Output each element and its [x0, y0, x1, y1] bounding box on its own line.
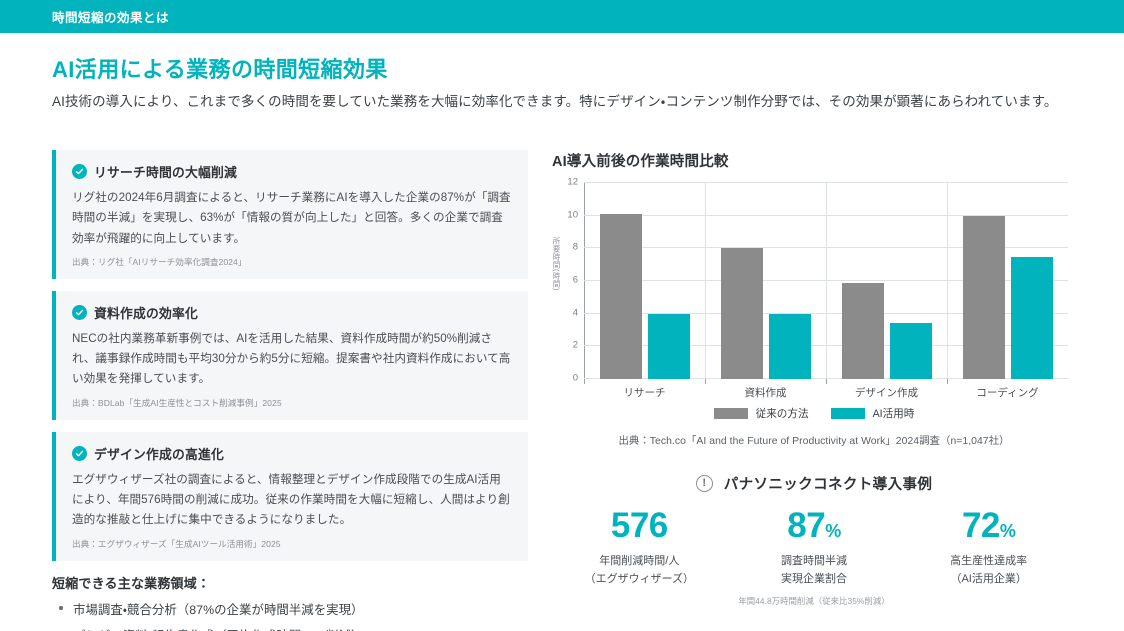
stat-caption: 年間削減時間/人 （エグザウィザーズ） [552, 552, 727, 588]
case-study-header: ! パナソニックコネクト導入事例 [552, 473, 1076, 494]
exclamation-circle-icon: ! [696, 475, 713, 492]
chart-x-tick-label: コーディング [947, 385, 1068, 400]
chart-bar [648, 314, 690, 379]
insight-card-title: デザイン作成の高進化 [94, 444, 224, 463]
case-study-title: パナソニックコネクト導入事例 [724, 473, 933, 494]
stat-value: 87% [727, 508, 902, 545]
chart-title: AI導入前後の作業時間比較 [552, 150, 1076, 171]
stats-row: 576 年間削減時間/人 （エグザウィザーズ） 87% 調査時間半減 実現企業割… [552, 508, 1076, 588]
legend-label: AI活用時 [873, 406, 915, 421]
chart-bar-group: リサーチ [584, 183, 705, 379]
insight-card-source: 出典：エグザウィザーズ「生成AIツール活用術」2025 [72, 538, 512, 550]
chart-source: 出典：Tech.co「AI and the Future of Producti… [552, 432, 1076, 447]
slide-header-bar: 時間短縮の効果とは [0, 0, 1124, 33]
list-item: 市場調査・競合分析（87%の企業が時間半減を実現） [52, 600, 528, 618]
stat-item: 576 年間削減時間/人 （エグザウィザーズ） [552, 508, 727, 588]
chart-x-tick-mark [705, 379, 706, 384]
stat-number: 87 [787, 506, 825, 545]
insight-card-header: 資料作成の効率化 [72, 303, 512, 322]
chart-bar [769, 314, 811, 379]
check-circle-icon [72, 305, 87, 320]
chart-x-tick-mark [947, 379, 948, 384]
chart-y-tick-label: 6 [573, 275, 578, 286]
insight-card-body: エグザウィザーズ社の調査によると、情報整理とデザイン作成段階での生成AI活用によ… [72, 470, 512, 531]
chart-bar-group: コーディング [947, 183, 1068, 379]
chart-x-tick-label: デザイン作成 [826, 385, 947, 400]
insight-card: 資料作成の効率化 NECの社内業務革新事例では、AIを活用した結果、資料作成時間… [52, 291, 528, 420]
work-areas-list: 市場調査・競合分析（87%の企業が時間半減を実現） プレゼン資料・報告書作成（平… [52, 600, 528, 631]
chart-y-tick-label: 12 [567, 177, 578, 188]
stat-caption: 調査時間半減 実現企業割合 [727, 552, 902, 588]
chart-plot-area: 024681012 リサーチ資料作成デザイン作成コーディング [584, 183, 1068, 379]
chart-legend: 従来の方法 AI活用時 [552, 406, 1076, 421]
insight-card-body: リグ社の2024年6月調査によると、リサーチ業務にAIを導入した企業の87%が「… [72, 188, 512, 249]
chart-bar-groups: リサーチ資料作成デザイン作成コーディング [584, 183, 1068, 379]
stat-number: 72 [962, 506, 1000, 545]
left-column: リサーチ時間の大幅削減 リグ社の2024年6月調査によると、リサーチ業務にAIを… [52, 150, 528, 631]
chart-bar [1011, 257, 1053, 380]
stat-value: 576 [552, 508, 727, 545]
chart-y-tick-label: 2 [573, 340, 578, 351]
page-title: AI活用による業務の時間短縮効果 [52, 52, 388, 84]
chart-y-tick-label: 4 [573, 307, 578, 318]
chart-bar [600, 214, 642, 379]
stat-number: 576 [611, 506, 668, 545]
insight-card: デザイン作成の高進化 エグザウィザーズ社の調査によると、情報整理とデザイン作成段… [52, 432, 528, 561]
work-areas-heading: 短縮できる主な業務領域： [52, 573, 528, 592]
slide-header-title: 時間短縮の効果とは [0, 7, 169, 26]
stats-footnote: 年間44.8万時間削減（従来比35%削減） [552, 595, 1076, 607]
stat-item: 72% 高生産性達成率 （AI活用企業） [901, 508, 1076, 588]
chart-y-axis-label: 所要時間(時間) [551, 237, 562, 291]
insight-card-source: 出典：リグ社「AIリサーチ効率化調査2024」 [72, 256, 512, 268]
check-circle-icon [72, 446, 87, 461]
legend-item-before: 従来の方法 [714, 406, 809, 421]
legend-swatch-icon [831, 408, 865, 419]
stat-unit: % [1000, 521, 1016, 541]
chart-bar [842, 283, 884, 379]
list-item: プレゼン資料・報告書作成（平均作成時間50%削減） [52, 626, 528, 631]
chart-y-tick-label: 10 [567, 209, 578, 220]
stat-value: 72% [901, 508, 1076, 545]
slide-body: AI活用による業務の時間短縮効果 AI技術の導入により、これまで多くの時間を要し… [0, 33, 1124, 631]
chart-x-tick-mark [826, 379, 827, 384]
chart-bar [721, 248, 763, 379]
chart-y-tick-label: 8 [573, 242, 578, 253]
slide-root: 時間短縮の効果とは AI活用による業務の時間短縮効果 AI技術の導入により、これ… [0, 0, 1124, 631]
insight-card-header: デザイン作成の高進化 [72, 444, 512, 463]
stat-caption-line: 調査時間半減 [727, 552, 902, 570]
legend-item-after: AI活用時 [831, 406, 915, 421]
right-column: AI導入前後の作業時間比較 所要時間(時間) 024681012 リサーチ資料作… [552, 150, 1076, 607]
chart-x-tick-mark [584, 379, 585, 384]
insight-card-title: 資料作成の効率化 [94, 303, 198, 322]
stat-unit: % [825, 521, 841, 541]
chart-x-tick-label: 資料作成 [705, 385, 826, 400]
case-study-stats: ! パナソニックコネクト導入事例 576 年間削減時間/人 （エグザウィザーズ）… [552, 473, 1076, 607]
chart-bar [890, 323, 932, 379]
stat-caption-line: 年間削減時間/人 [552, 552, 727, 570]
chart-y-tick-label: 0 [573, 373, 578, 384]
page-lede: AI技術の導入により、これまで多くの時間を要していた業務を大幅に効率化できます。… [52, 89, 1072, 115]
stat-caption: 高生産性達成率 （AI活用企業） [901, 552, 1076, 588]
chart-bar [963, 216, 1005, 379]
insight-card-title: リサーチ時間の大幅削減 [94, 162, 237, 181]
insight-card-body: NECの社内業務革新事例では、AIを活用した結果、資料作成時間が約50%削減され… [72, 329, 512, 390]
legend-swatch-icon [714, 408, 748, 419]
bar-chart: 所要時間(時間) 024681012 リサーチ資料作成デザイン作成コーディング [552, 183, 1076, 401]
stat-caption-line: 実現企業割合 [727, 570, 902, 588]
insight-card: リサーチ時間の大幅削減 リグ社の2024年6月調査によると、リサーチ業務にAIを… [52, 150, 528, 279]
chart-bar-group: 資料作成 [705, 183, 826, 379]
insight-card-header: リサーチ時間の大幅削減 [72, 162, 512, 181]
stat-caption-line: （AI活用企業） [901, 570, 1076, 588]
chart-x-tick-label: リサーチ [584, 385, 705, 400]
legend-label: 従来の方法 [756, 406, 809, 421]
check-circle-icon [72, 164, 87, 179]
stat-caption-line: 高生産性達成率 [901, 552, 1076, 570]
stat-caption-line: （エグザウィザーズ） [552, 570, 727, 588]
chart-bar-group: デザイン作成 [826, 183, 947, 379]
insight-card-source: 出典：BDLab「生成AI生産性とコスト削減事例」2025 [72, 397, 512, 409]
stat-item: 87% 調査時間半減 実現企業割合 [727, 508, 902, 588]
